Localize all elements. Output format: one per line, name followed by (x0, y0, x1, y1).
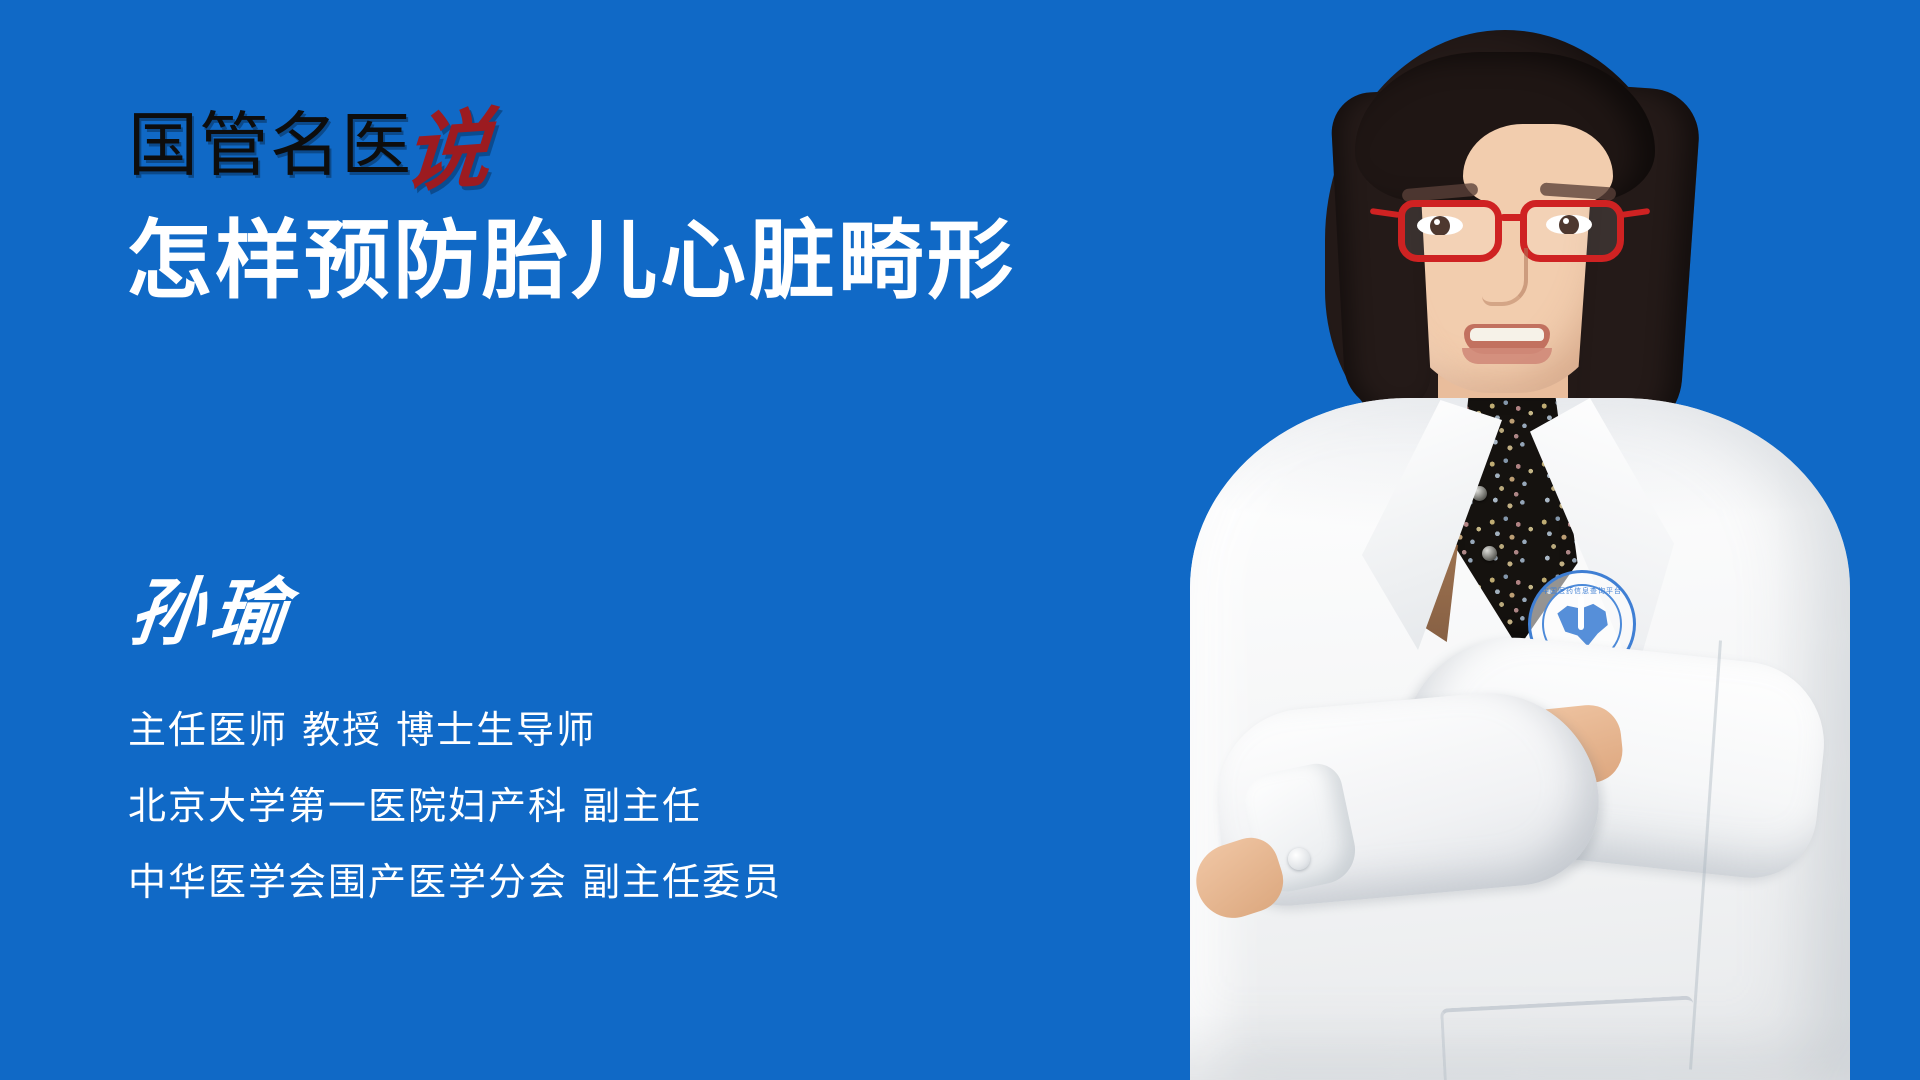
title-card-slide: 国管名医 说 怎样预防胎儿心脏畸形 孙瑜 主任医师 教授 博士生导师 北京大学第… (0, 0, 1920, 1080)
eyeglass-bridge (1500, 214, 1524, 221)
coat-button (1288, 848, 1310, 870)
speaker-credentials: 主任医师 教授 博士生导师 北京大学第一医院妇产科 副主任 中华医学会围产医学分… (128, 710, 782, 903)
program-logo-main-text: 国管名医 (128, 110, 412, 180)
blouse-button-2 (1482, 546, 1497, 561)
lower-lip (1462, 348, 1552, 364)
program-logo: 国管名医 说 (128, 88, 490, 180)
caduceus-icon (1578, 596, 1584, 630)
page-title: 怎样预防胎儿心脏畸形 (126, 216, 1016, 307)
eyeglass-temple-left (1370, 208, 1401, 218)
badge-text-top: 中国医药信息查询平台 (1528, 586, 1636, 596)
program-logo-accent-text: 说 (401, 115, 493, 191)
speaker-name: 孙瑜 (126, 576, 298, 650)
credential-line-2: 北京大学第一医院妇产科 副主任 (128, 786, 782, 828)
nose (1482, 248, 1528, 306)
eyeglass-lens-right (1520, 200, 1624, 262)
coat-pocket (1440, 995, 1697, 1080)
speaker-portrait: 中国医药信息查询平台 CHINA MEDICAL INFORMATION PLA… (1100, 0, 1920, 1080)
credential-line-1: 主任医师 教授 博士生导师 (128, 710, 782, 752)
credential-line-3: 中华医学会围产医学分会 副主任委员 (128, 862, 782, 904)
